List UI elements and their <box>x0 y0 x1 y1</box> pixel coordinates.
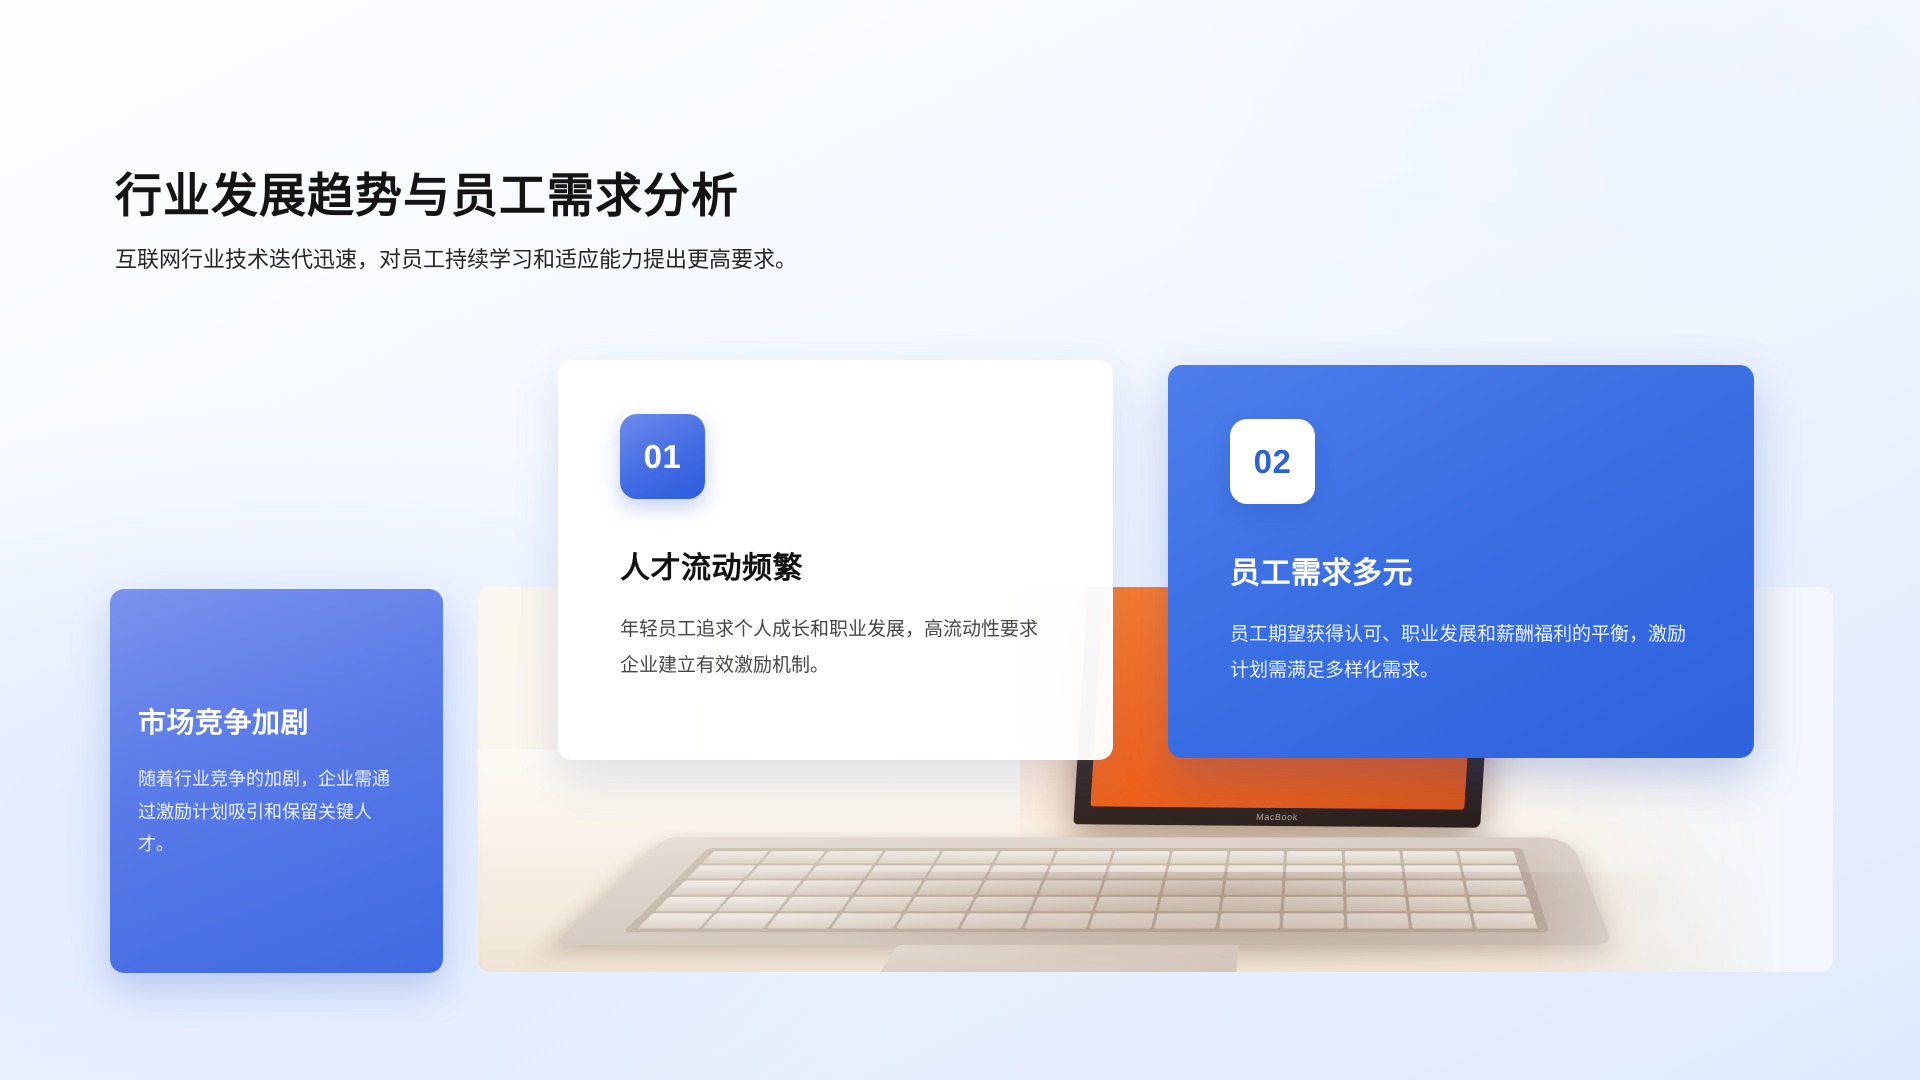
card-title: 市场竞争加剧 <box>138 701 415 741</box>
slide-root: 行业发展趋势与员工需求分析 互联网行业技术迭代迅速，对员工持续学习和适应能力提出… <box>0 0 1920 1080</box>
card-market-competition[interactable]: 市场竞争加剧 随着行业竞争的加剧，企业需通过激励计划吸引和保留关键人才。 <box>110 589 443 973</box>
card-title: 员工需求多元 <box>1230 548 1692 592</box>
page-title: 行业发展趋势与员工需求分析 <box>115 168 1015 223</box>
card-body: 员工期望获得认可、职业发展和薪酬福利的平衡，激励计划需满足多样化需求。 <box>1230 617 1692 690</box>
card-number-badge: 01 <box>620 414 705 499</box>
card-title: 人才流动频繁 <box>620 543 1051 587</box>
laptop-brand-label: MacBook <box>1074 810 1481 824</box>
page-subtitle: 互联网行业技术迭代迅速，对员工持续学习和适应能力提出更高要求。 <box>115 244 815 277</box>
card-number-badge: 02 <box>1230 419 1315 504</box>
slide-header: 行业发展趋势与员工需求分析 互联网行业技术迭代迅速，对员工持续学习和适应能力提出… <box>115 168 1015 277</box>
keyboard-row <box>701 851 1517 864</box>
card-employee-needs[interactable]: 02 员工需求多元 员工期望获得认可、职业发展和薪酬福利的平衡，激励计划需满足多… <box>1168 365 1754 758</box>
card-talent-mobility[interactable]: 01 人才流动频繁 年轻员工追求个人成长和职业发展，高流动性要求企业建立有效激励… <box>558 360 1113 760</box>
card-body: 随着行业竞争的加剧，企业需通过激励计划吸引和保留关键人才。 <box>138 763 390 861</box>
card-body: 年轻员工追求个人成长和职业发展，高流动性要求企业建立有效激励机制。 <box>620 612 1051 685</box>
